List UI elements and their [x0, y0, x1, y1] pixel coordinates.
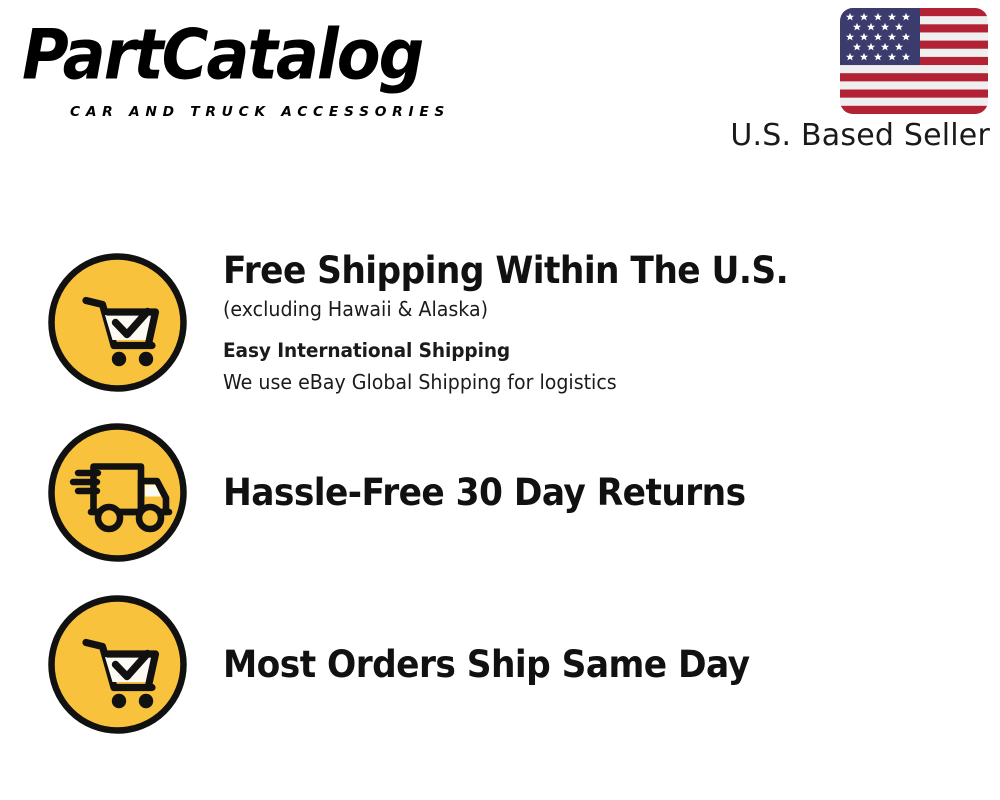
delivery-truck-icon — [45, 420, 190, 565]
brand-logo[interactable]: PartCatalog CAR AND TRUCK ACCESSORIES — [22, 18, 492, 118]
feature-title: Most Orders Ship Same Day — [223, 643, 927, 687]
feature-subtitle-detail: We use eBay Global Shipping for logistic… — [223, 367, 942, 397]
feature-text-block: Most Orders Ship Same Day — [223, 643, 1000, 687]
feature-subtitle: (excluding Hawaii & Alaska) — [223, 294, 942, 324]
feature-title: Hassle-Free 30 Day Returns — [223, 471, 927, 515]
page-header: PartCatalog CAR AND TRUCK ACCESSORIES — [0, 0, 1000, 170]
brand-wordmark: PartCatalog — [22, 18, 506, 92]
feature-list: Free Shipping Within The U.S. (excluding… — [0, 170, 1000, 800]
feature-title: Free Shipping Within The U.S. — [223, 249, 927, 293]
us-based-seller-label: U.S. Based Seller — [570, 118, 990, 154]
us-flag-icon — [840, 8, 988, 114]
feature-subtitle-emphasis: Easy International Shipping — [223, 336, 942, 366]
shopping-cart-check-icon — [45, 592, 190, 737]
brand-tagline: CAR AND TRUCK ACCESSORIES — [70, 104, 450, 120]
feature-text-block: Free Shipping Within The U.S. (excluding… — [223, 249, 1000, 397]
feature-text-block: Hassle-Free 30 Day Returns — [223, 471, 1000, 515]
feature-item-returns: Hassle-Free 30 Day Returns — [0, 420, 1000, 565]
shopping-cart-check-icon — [45, 250, 190, 395]
feature-item-same-day: Most Orders Ship Same Day — [0, 592, 1000, 737]
feature-item-free-shipping: Free Shipping Within The U.S. (excluding… — [0, 250, 1000, 395]
